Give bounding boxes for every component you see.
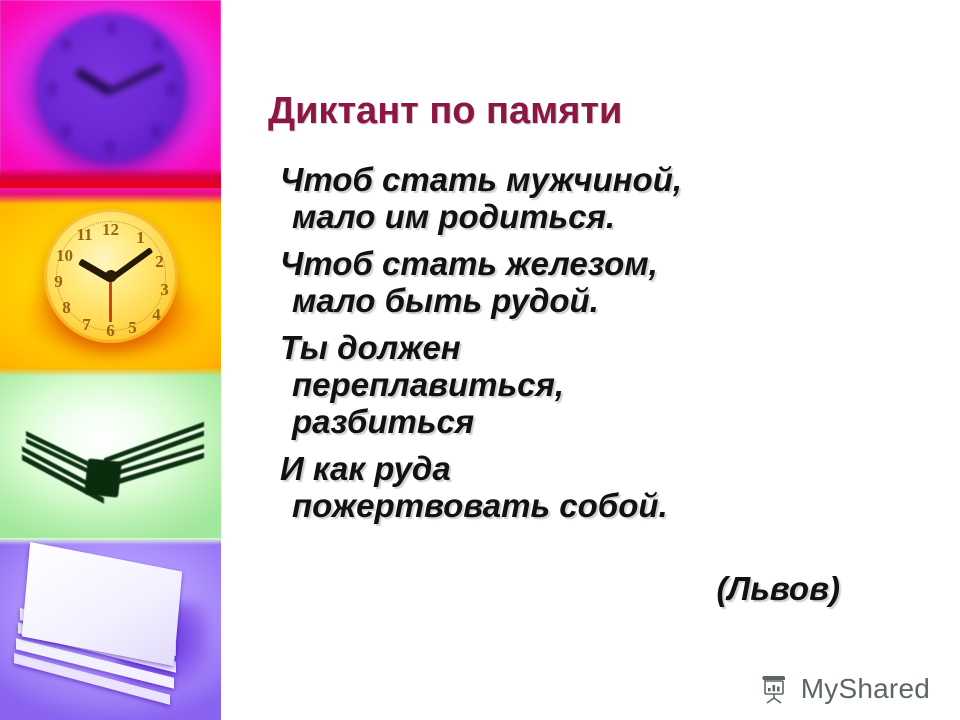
photo-strip: 12 1 2 3 4 5 6 7 8 9 10 11 — [0, 0, 221, 720]
myshared-watermark: MyShared — [759, 672, 930, 706]
slide-title: Диктант по памяти — [268, 90, 908, 133]
clock-center-pin — [105, 270, 117, 282]
panel1-bottom-band — [0, 168, 221, 188]
photo-panel-open-book-green — [0, 368, 221, 538]
photo-panel-blurred-clock-magenta — [0, 0, 221, 188]
poem-line: Ты должен переплавиться, разбиться — [268, 330, 712, 441]
presentation-slide: 12 1 2 3 4 5 6 7 8 9 10 11 — [0, 0, 960, 720]
photo-panel-clock-yellow-orange: 12 1 2 3 4 5 6 7 8 9 10 11 — [0, 188, 221, 368]
poem-attribution: (Львов) — [268, 570, 840, 608]
second-hand — [109, 276, 112, 322]
panel3-top-band — [0, 368, 221, 376]
book-spine — [84, 458, 122, 497]
poem-line: И как руда пожертвовать собой. — [268, 451, 712, 525]
watermark-text: MyShared — [801, 673, 930, 705]
clock-face-icon: 12 1 2 3 4 5 6 7 8 9 10 11 — [44, 209, 178, 343]
presentation-chart-icon — [759, 672, 793, 706]
slide-content: Диктант по памяти Чтоб стать мужчиной, м… — [250, 0, 960, 720]
poem-line: Чтоб стать мужчиной, мало им родиться. — [268, 162, 712, 236]
blurred-clock-face-icon — [36, 13, 186, 163]
photo-panel-paper-stack-purple — [0, 538, 221, 720]
poem-body: Чтоб стать мужчиной, мало им родиться. Ч… — [268, 162, 928, 535]
hour-hand — [74, 68, 113, 97]
minute-hand — [109, 63, 164, 94]
poem-line: Чтоб стать железом, мало быть рудой. — [268, 246, 712, 320]
panel2-top-band — [0, 188, 221, 204]
